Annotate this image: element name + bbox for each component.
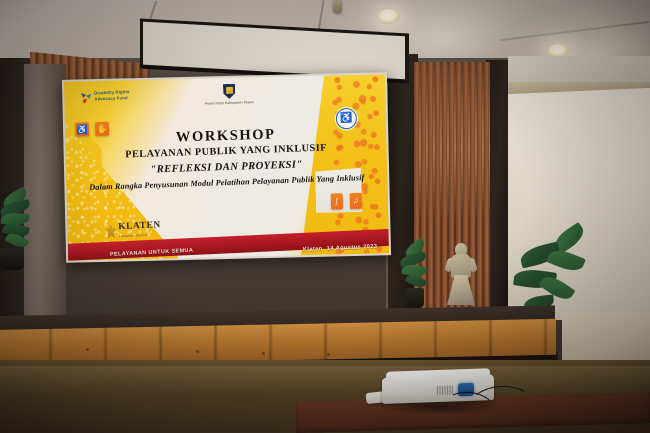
fire-sprinkler <box>333 0 342 13</box>
deaf-access-glyph: ♫ <box>353 197 359 205</box>
cream-wall-upper <box>508 56 650 82</box>
emblem-shield <box>223 84 236 99</box>
klaten-logo: KLATEN Kabupaten Bersinar <box>105 220 184 239</box>
projector-vent <box>437 385 453 395</box>
plant-pot-left <box>0 248 24 270</box>
javanese-statue <box>446 243 476 305</box>
mobility-aid-icon: ʃ <box>331 193 343 209</box>
ceiling-downlight-1 <box>378 9 400 24</box>
workshop-banner: Disability Rights Advocacy Fund Pemerint… <box>62 72 391 263</box>
draf-logo: Disability Rights Advocacy Fund <box>80 88 155 107</box>
klaten-logo-textblock: KLATEN Kabupaten Bersinar <box>118 221 161 238</box>
banner-canvas: Disability Rights Advocacy Fund Pemerint… <box>64 74 389 261</box>
stage-panel-knob <box>262 352 265 355</box>
stage-panel-knob <box>86 348 89 351</box>
klaten-logo-mark <box>105 223 117 239</box>
draf-logo-text: Disability Rights Advocacy Fund <box>94 89 130 102</box>
mobility-aid-glyph: ʃ <box>335 197 338 205</box>
stage-panel-knob <box>196 350 199 353</box>
draf-line-2: Advocacy Fund <box>94 95 130 102</box>
deaf-access-icon: ♫ <box>350 193 362 209</box>
plant-pot-center <box>406 288 424 308</box>
draf-logo-mark <box>80 92 93 105</box>
plaster-column-left <box>24 64 66 320</box>
klaten-logo-label: KLATEN <box>118 221 161 232</box>
slat-rod-array <box>414 62 490 222</box>
stage-panel-knob <box>327 353 330 356</box>
room-photo-scene: Disability Rights Advocacy Fund Pemerint… <box>0 0 650 433</box>
accessibility-glyph: ♿ <box>340 113 353 124</box>
statue-body <box>451 254 471 278</box>
floor-sheen <box>0 366 650 396</box>
pemkab-klaten-emblem: Pemerintah Kabupaten Klaten <box>203 83 256 105</box>
statue-skirt <box>447 275 475 305</box>
emblem-caption: Pemerintah Kabupaten Klaten <box>204 100 256 106</box>
